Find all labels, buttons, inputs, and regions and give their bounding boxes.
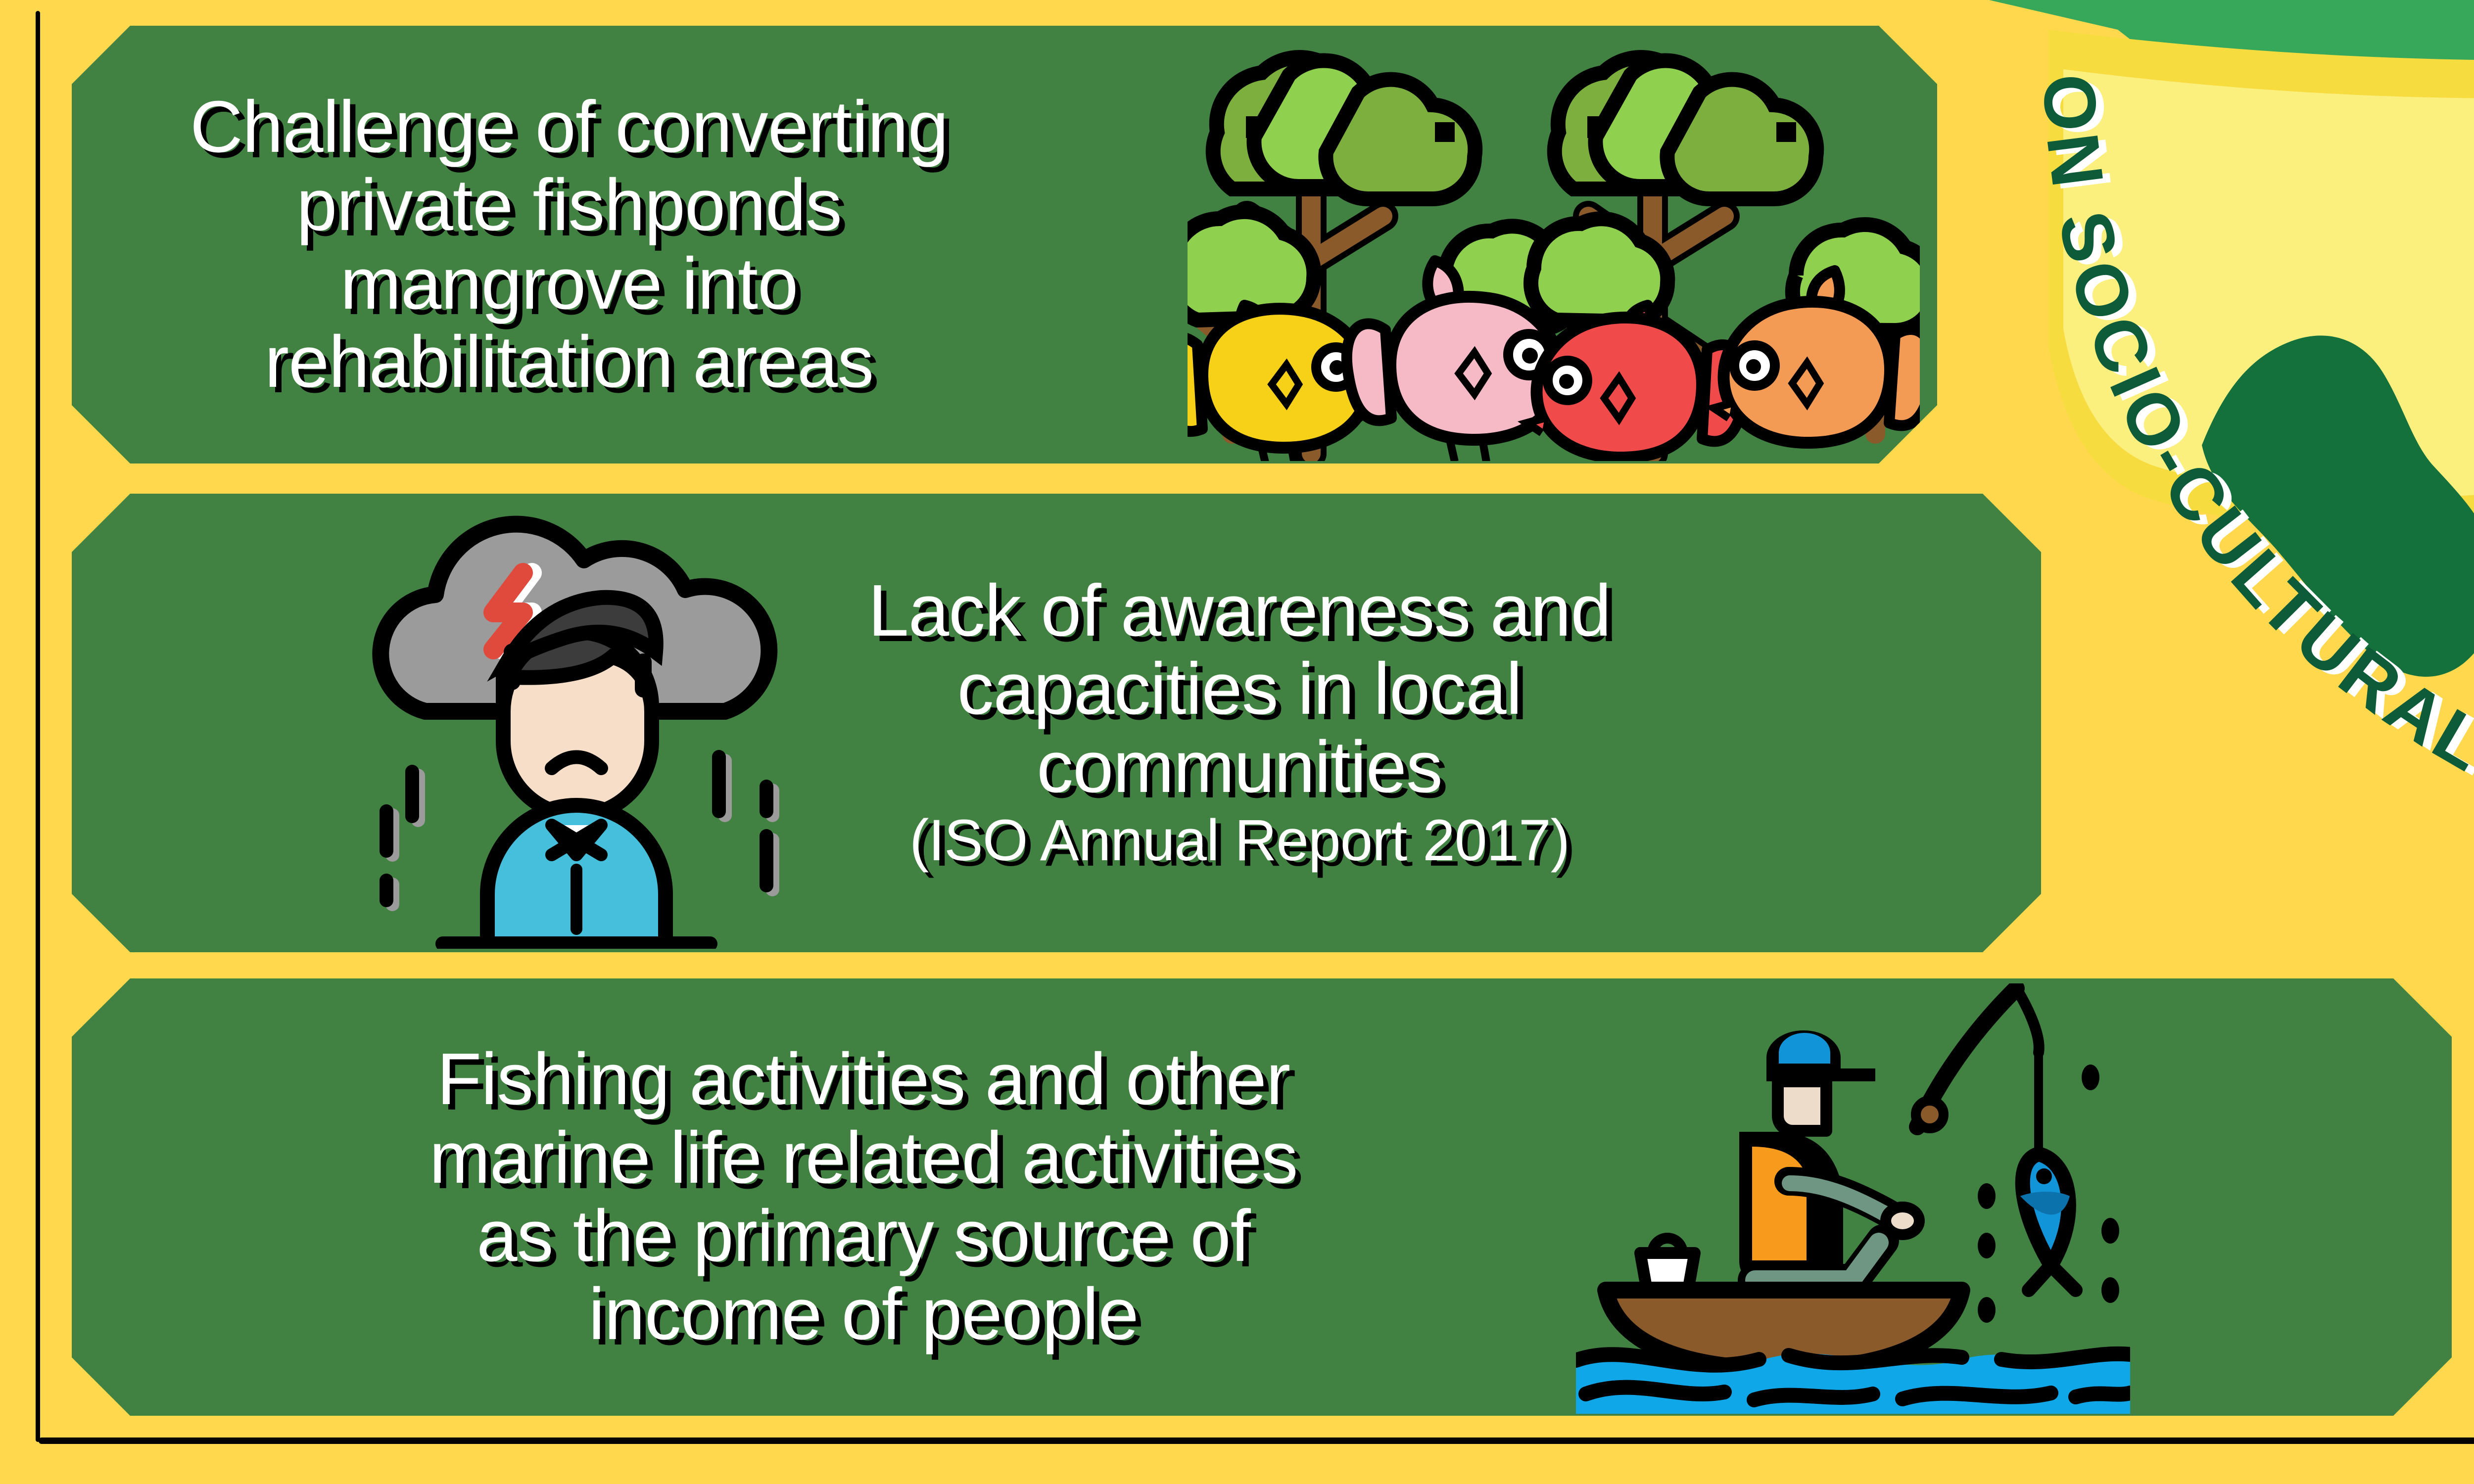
infographic-canvas: Challenge of converting private fishpond… xyxy=(0,0,2474,1484)
hooked-fish-icon xyxy=(2020,1154,2076,1290)
water-waves xyxy=(1576,1353,2130,1414)
mangrove-canopy-2 xyxy=(1555,57,1817,199)
bg-shape-dark-hill xyxy=(2202,335,2474,677)
person-head xyxy=(503,598,656,815)
panel-awareness-main: Lack of awareness and capacities in loca… xyxy=(868,570,1611,808)
sad-person-raincloud-illustration xyxy=(339,499,814,949)
bg-shape-green-upper xyxy=(1989,0,2474,376)
panel-fishing-income-text: Fishing activities and other marine life… xyxy=(299,1040,1427,1353)
bg-shape-pale-yellow xyxy=(2063,69,2474,498)
mangrove-fish-illustration xyxy=(1188,28,1920,461)
bg-shape-yellow-stripe xyxy=(2048,30,2474,531)
left-frame-rule xyxy=(36,11,40,1442)
panel-awareness: Lack of awareness and capacities in loca… xyxy=(72,494,2041,952)
landscape-background-decoration xyxy=(1989,0,2474,1014)
fisherman-boat-illustration xyxy=(1576,983,2130,1414)
panel-fishponds-text: Challenge of converting private fishpond… xyxy=(109,88,1029,401)
mangrove-canopy-1 xyxy=(1213,57,1475,199)
fishing-rod-icon xyxy=(1916,988,2039,1154)
panel-awareness-citation: (ISO Annual Report 2017) xyxy=(745,807,1734,875)
person-body xyxy=(443,805,710,944)
panel-awareness-text: Lack of awareness and capacities in loca… xyxy=(745,493,1734,953)
panel-fishing-income: Fishing activities and other marine life… xyxy=(72,978,2452,1416)
fisherman-figure xyxy=(1739,1030,1919,1280)
panel-fishponds: Challenge of converting private fishpond… xyxy=(72,26,1937,464)
bottom-frame-rule xyxy=(39,1438,2474,1444)
